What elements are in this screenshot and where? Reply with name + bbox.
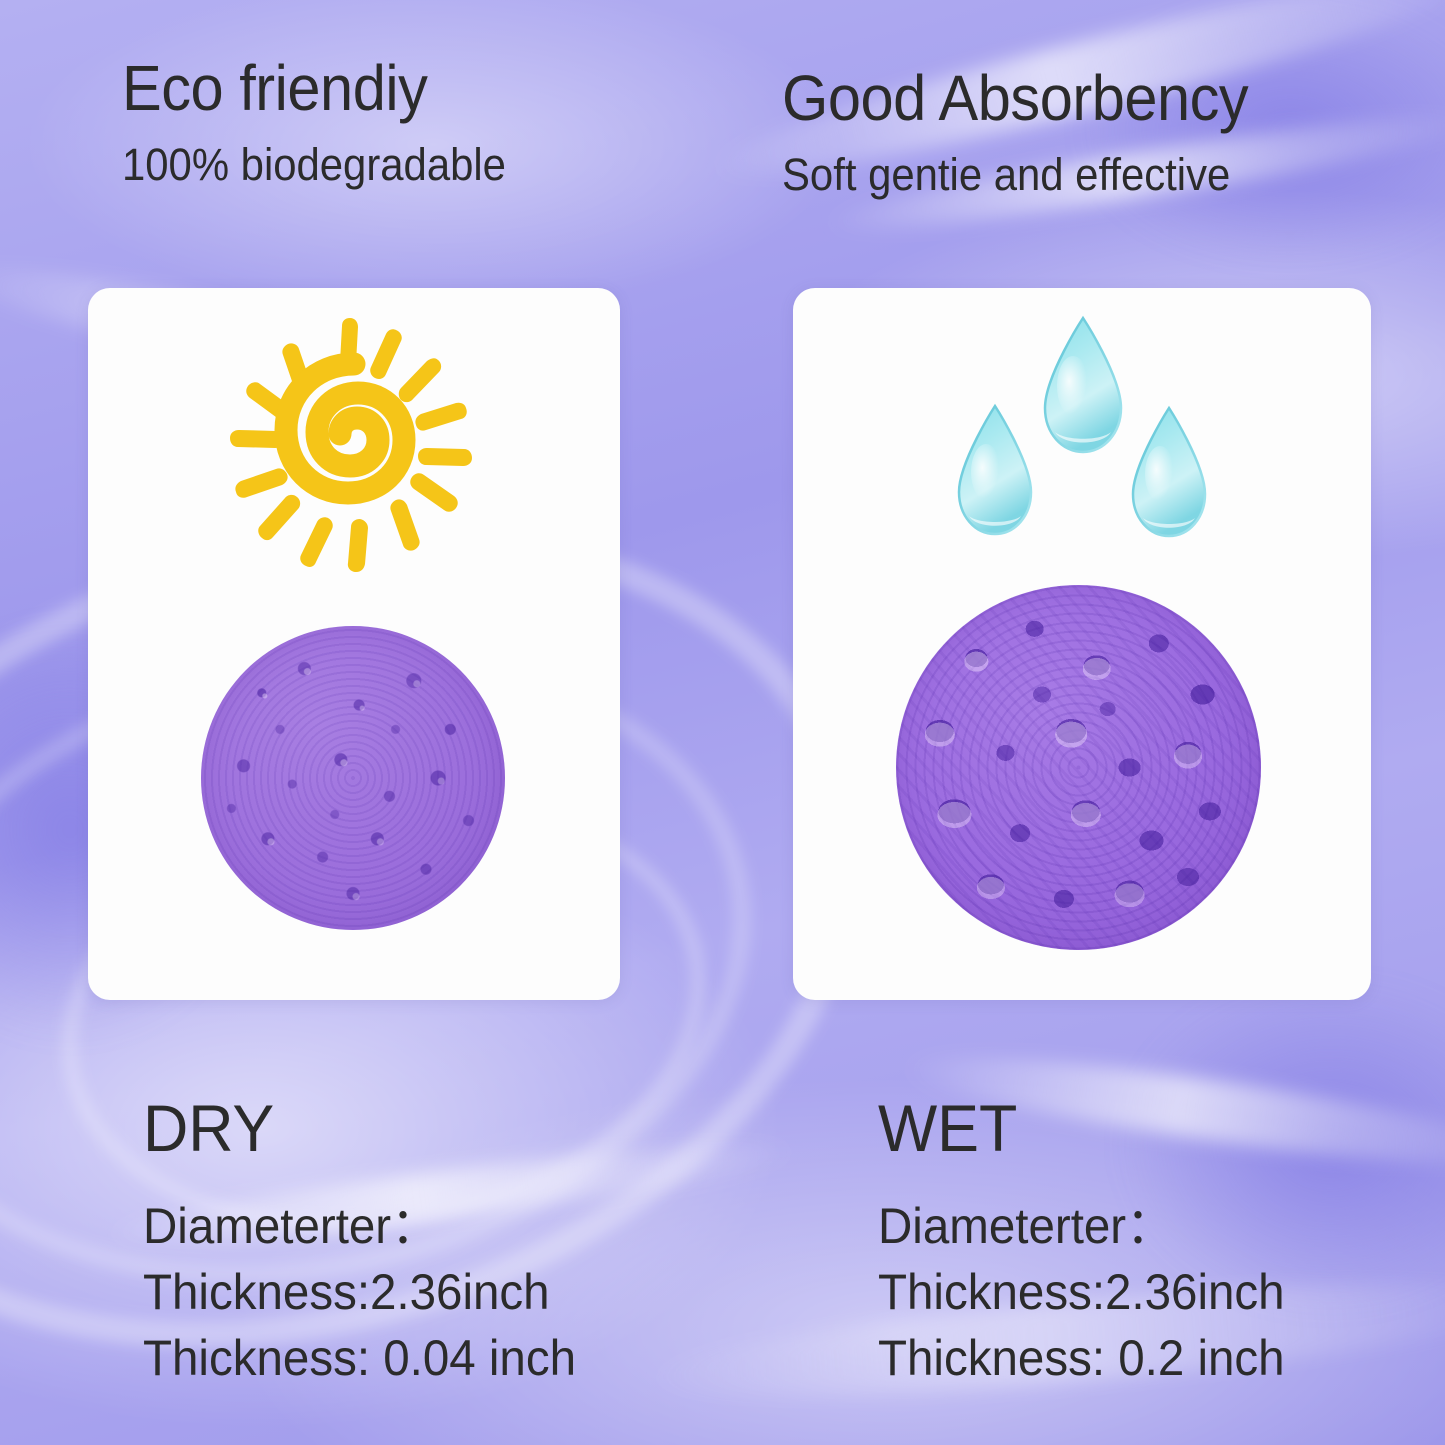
spec-lines-wet: Diameterter： Thickness:2.36inch Thicknes… [878, 1193, 1306, 1391]
spec-line-thickness-a-dry: Thickness:2.36inch [143, 1259, 576, 1325]
wet-sponge-disc [896, 585, 1261, 950]
spec-block-dry: DRY Diameterter： Thickness:2.36inch Thic… [143, 1095, 599, 1391]
state-label-dry: DRY [143, 1095, 576, 1161]
product-infographic: Eco friendiy 100% biodegradable Good Abs… [0, 0, 1445, 1445]
water-drops-icon [933, 308, 1233, 573]
heading-block-eco-friendly: Eco friendiy 100% biodegradable [122, 56, 535, 187]
feature-card-eco-friendly [88, 288, 620, 1000]
spec-line-thickness-b-wet: Thickness: 0.2 inch [878, 1325, 1285, 1391]
subtitle-good-absorbency: Soft gentie and effective [782, 152, 1248, 197]
page-title-good-absorbency: Good Absorbency [782, 66, 1248, 130]
spec-line-diameter-dry: Diameterter： [143, 1193, 576, 1259]
sun-icon [228, 316, 480, 574]
feature-card-good-absorbency [793, 288, 1371, 1000]
spec-line-diameter-wet: Diameterter： [878, 1193, 1285, 1259]
spec-block-wet: WET Diameterter： Thickness:2.36inch Thic… [878, 1095, 1306, 1391]
subtitle-eco-friendly: 100% biodegradable [122, 142, 506, 187]
spec-line-thickness-b-dry: Thickness: 0.04 inch [143, 1325, 576, 1391]
state-label-wet: WET [878, 1095, 1285, 1161]
spec-lines-dry: Diameterter： Thickness:2.36inch Thicknes… [143, 1193, 599, 1391]
heading-block-good-absorbency: Good Absorbency Soft gentie and effectiv… [782, 66, 1283, 197]
page-title-eco-friendly: Eco friendiy [122, 56, 506, 120]
spec-line-thickness-a-wet: Thickness:2.36inch [878, 1259, 1285, 1325]
dry-sponge-disc [201, 626, 505, 930]
